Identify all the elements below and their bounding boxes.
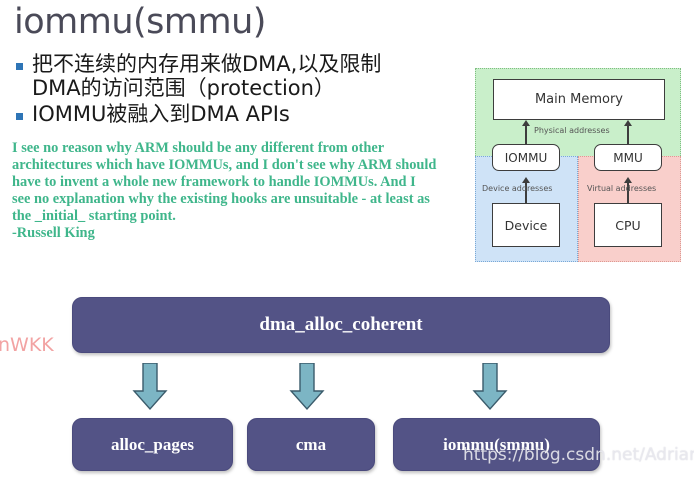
square-bullet-icon: [16, 113, 23, 120]
bullet-item-label: IOMMU被融入到DMA APIs: [32, 102, 290, 126]
pink-overlay-text: nWKK: [0, 334, 54, 356]
bullet-list: 把不连续的内存用来做DMA,以及限制 DMA的访问范围（protection） …: [16, 52, 456, 128]
quote-text: I see no reason why ARM should be any di…: [12, 140, 444, 242]
label-virtual-addresses: Virtual addresses: [587, 184, 656, 193]
architecture-diagram: Main Memory IOMMU MMU Device CPU Physica…: [470, 60, 686, 268]
bullet-item-label: 把不连续的内存用来做DMA,以及限制 DMA的访问范围（protection）: [32, 52, 381, 100]
bullet-item: IOMMU被融入到DMA APIs: [16, 102, 456, 126]
flow-arrow-to-alloc-pages: [132, 363, 168, 411]
flow-box-cma[interactable]: cma: [247, 418, 375, 471]
node-main-memory: Main Memory: [493, 79, 665, 120]
arrow-head-icon: [522, 120, 530, 126]
arrow-iommu-to-memory: [525, 126, 527, 144]
label-device-addresses: Device addresses: [482, 184, 552, 193]
bullet-item: 把不连续的内存用来做DMA,以及限制 DMA的访问范围（protection）: [16, 52, 456, 100]
flow-arrow-to-cma: [289, 363, 325, 411]
square-bullet-icon: [16, 63, 23, 70]
flow-box-dma-alloc-coherent[interactable]: dma_alloc_coherent: [72, 297, 610, 353]
node-cpu: CPU: [594, 203, 662, 247]
arrow-mmu-to-memory: [627, 126, 629, 144]
node-iommu: IOMMU: [492, 144, 560, 171]
watermark-text: https://blog.csdn.net/Adrian503: [463, 445, 694, 465]
label-physical-addresses: Physical addresses: [534, 126, 610, 135]
node-mmu: MMU: [594, 144, 662, 171]
arrow-head-icon: [624, 120, 632, 126]
arrow-head-icon: [522, 177, 530, 183]
node-device: Device: [492, 203, 560, 247]
page-title: iommu(smmu): [14, 2, 266, 42]
slide-canvas: iommu(smmu) 把不连续的内存用来做DMA,以及限制 DMA的访问范围（…: [0, 0, 694, 477]
flow-box-alloc-pages[interactable]: alloc_pages: [72, 418, 233, 471]
flow-arrow-to-iommu: [472, 363, 508, 411]
arrow-head-icon: [624, 177, 632, 183]
